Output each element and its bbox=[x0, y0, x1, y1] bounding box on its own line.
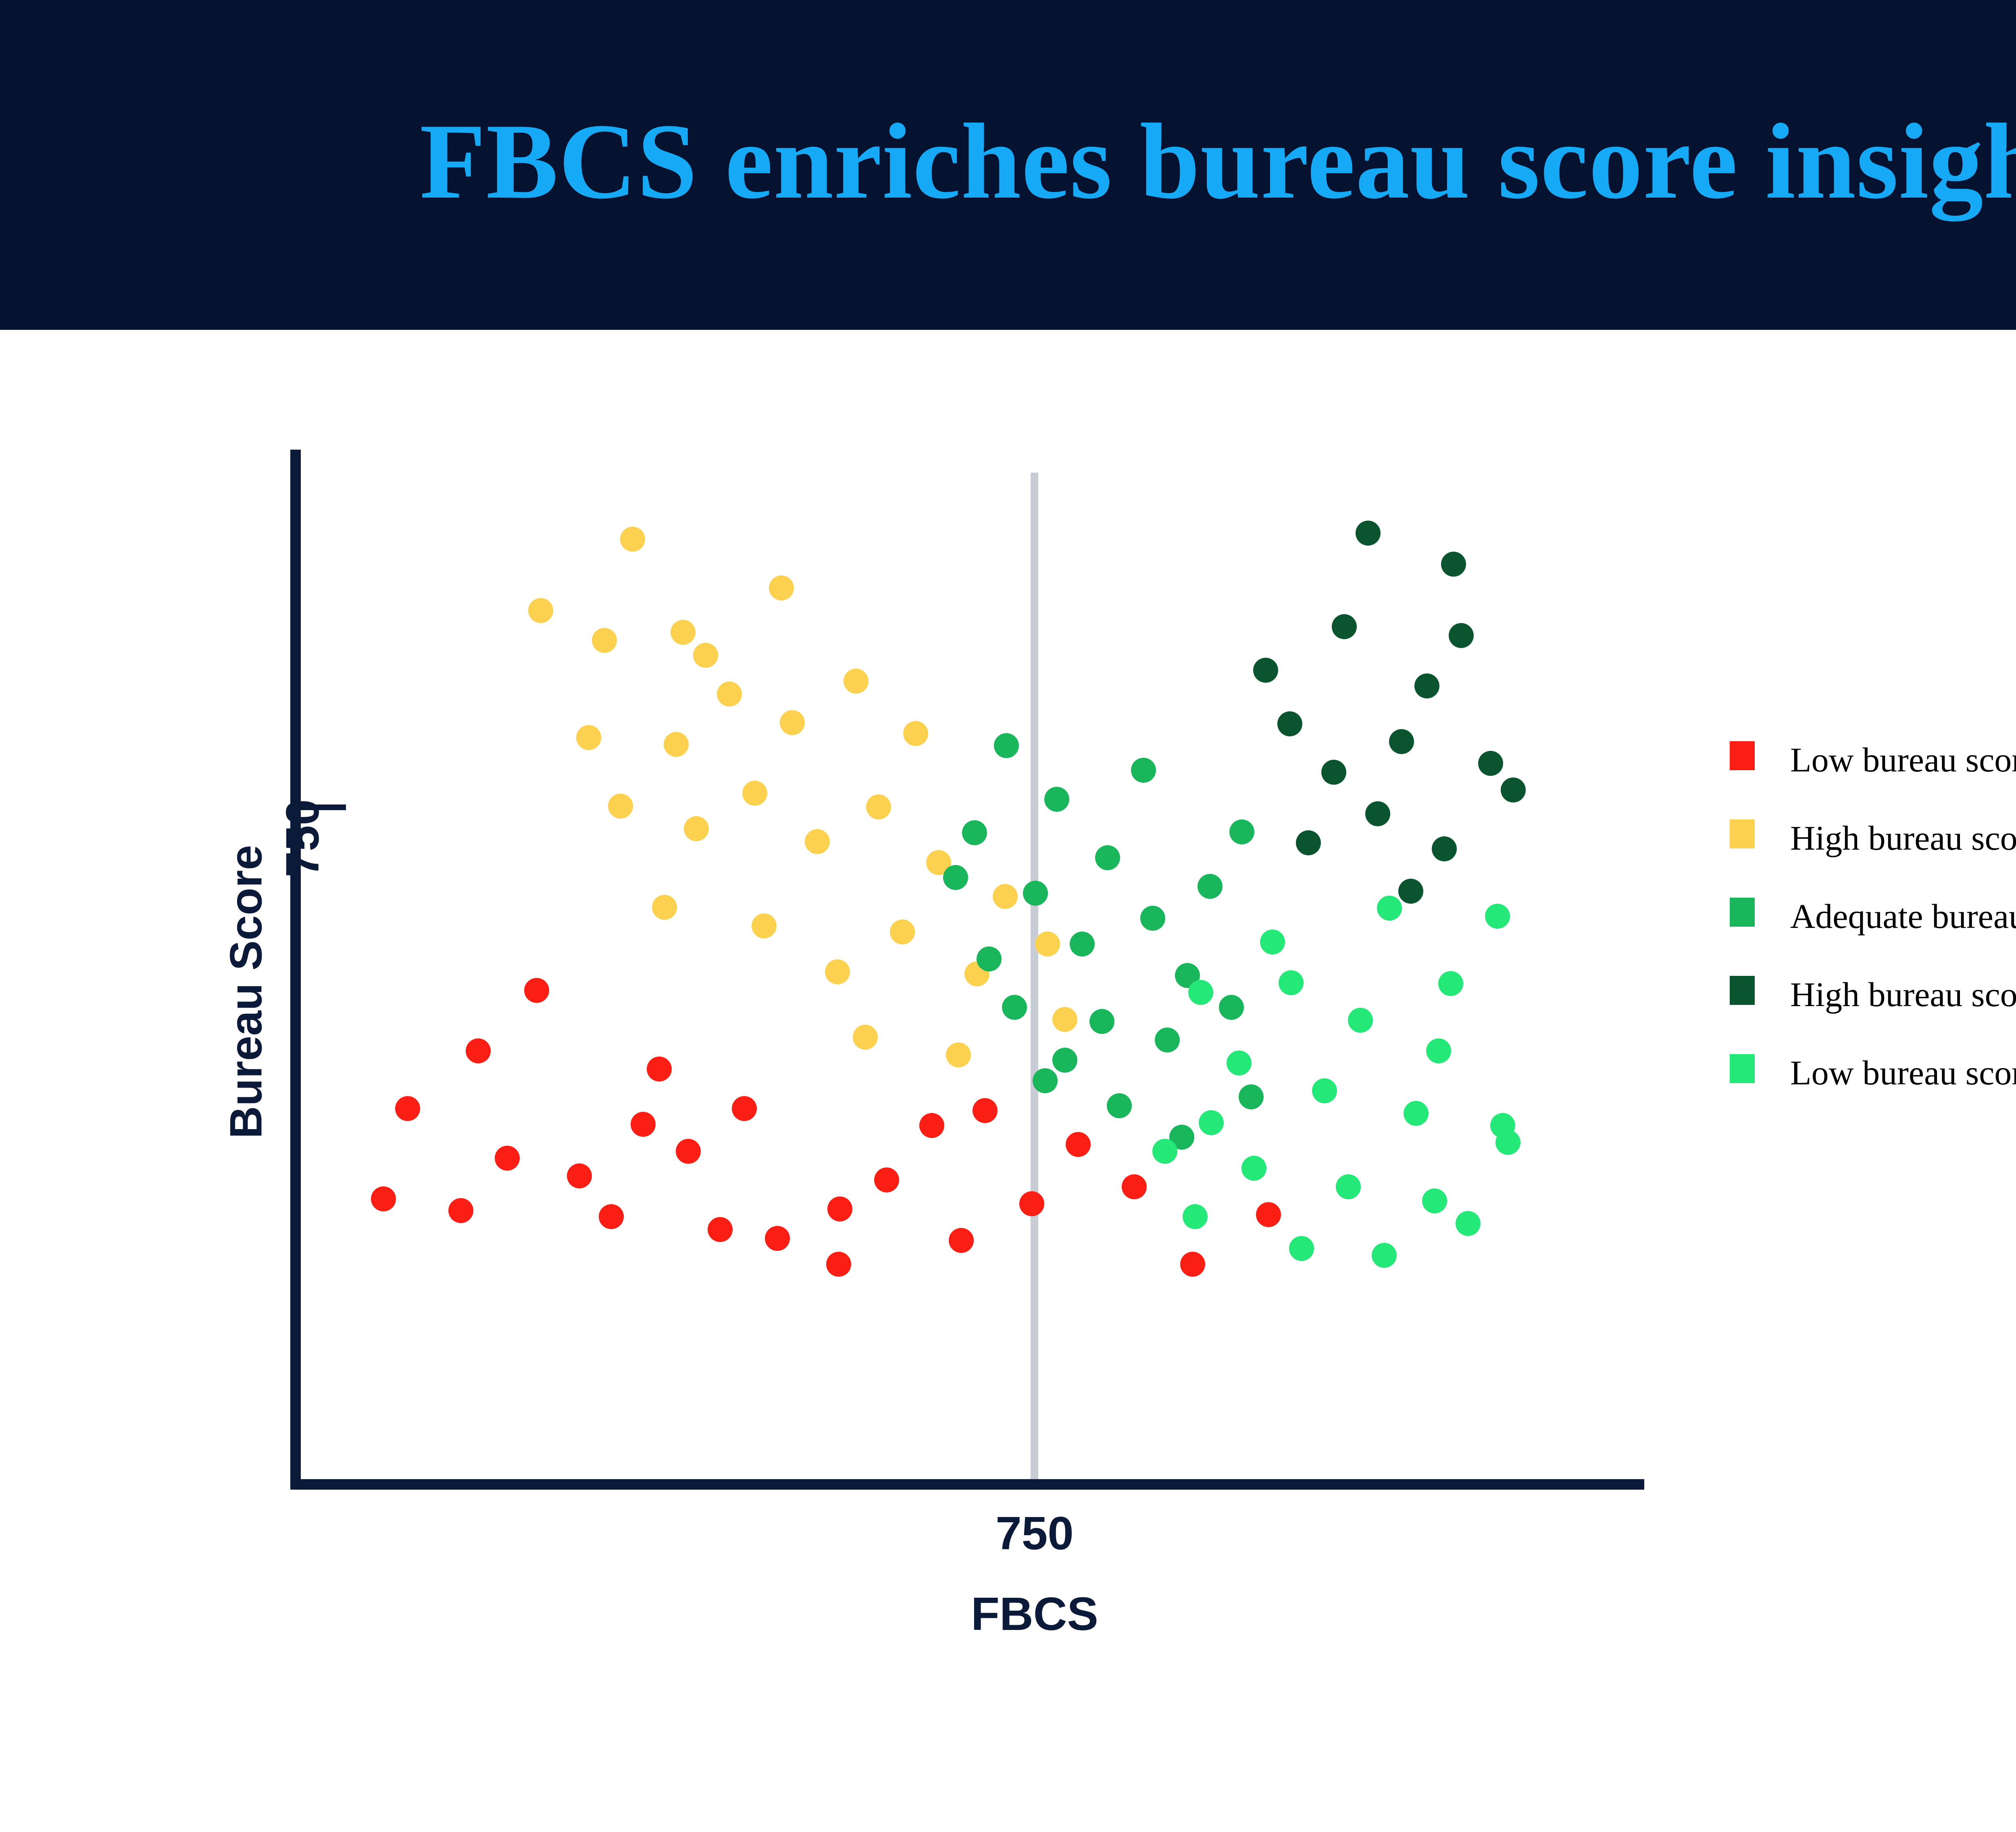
scatter-point bbox=[1414, 673, 1439, 698]
x-reference-line-750 bbox=[1031, 473, 1038, 1479]
page-title: FBCS enriches bureau score insights bbox=[0, 101, 2016, 222]
scatter-point bbox=[1033, 1068, 1058, 1093]
scatter-point bbox=[528, 598, 553, 623]
scatter-point bbox=[1122, 1174, 1147, 1199]
scatter-point bbox=[1312, 1078, 1337, 1103]
scatter-point bbox=[1095, 845, 1120, 870]
scatter-point bbox=[652, 895, 677, 920]
scatter-point bbox=[684, 816, 709, 841]
legend-item: High bureau score, low FBCS bbox=[1730, 819, 2016, 898]
scatter-point bbox=[1332, 614, 1357, 639]
scatter-point bbox=[962, 820, 987, 845]
chart-legend: Low bureau score, low FBCSHigh bureau sc… bbox=[1730, 741, 2016, 1132]
scatter-point bbox=[1229, 819, 1254, 844]
scatter-point bbox=[732, 1096, 757, 1121]
scatter-point bbox=[1495, 1130, 1520, 1155]
legend-label: High bureau score, high FBCS bbox=[1790, 974, 2016, 1015]
scatter-point bbox=[671, 620, 696, 645]
header-band: FBCS enriches bureau score insights bbox=[0, 0, 2016, 330]
scatter-point bbox=[827, 1196, 852, 1221]
scatter-point bbox=[1485, 904, 1510, 929]
scatter-point bbox=[599, 1204, 624, 1229]
legend-swatch bbox=[1730, 819, 1755, 848]
scatter-point bbox=[825, 959, 850, 984]
scatter-point bbox=[1365, 801, 1390, 826]
scatter-point bbox=[371, 1186, 396, 1211]
x-axis-line bbox=[290, 1479, 1644, 1490]
scatter-point bbox=[495, 1146, 520, 1171]
y-axis-title: Bureau Score bbox=[220, 811, 272, 1173]
scatter-point bbox=[1432, 836, 1457, 861]
scatter-point bbox=[765, 1226, 790, 1251]
legend-label: Adequate bureau score, adequate FBCS bbox=[1790, 896, 2016, 936]
scatter-point bbox=[1070, 932, 1095, 957]
legend-item: Adequate bureau score, adequate FBCS bbox=[1730, 898, 2016, 976]
scatter-point bbox=[1478, 751, 1503, 776]
scatter-point bbox=[805, 829, 830, 854]
scatter-point bbox=[1356, 521, 1381, 546]
scatter-point bbox=[853, 1025, 878, 1050]
scatter-point bbox=[524, 978, 549, 1003]
scatter-point bbox=[1239, 1084, 1264, 1109]
legend-swatch bbox=[1730, 898, 1755, 927]
scatter-point bbox=[1241, 1156, 1266, 1181]
scatter-point bbox=[943, 865, 968, 890]
scatter-point bbox=[693, 643, 718, 668]
scatter-point bbox=[1140, 906, 1165, 931]
scatter-point bbox=[949, 1228, 974, 1253]
scatter-point bbox=[1389, 729, 1414, 754]
legend-label: Low bureau score, low FBCS bbox=[1790, 740, 2016, 780]
scatter-point bbox=[1348, 1008, 1373, 1033]
scatter-point bbox=[1336, 1174, 1361, 1199]
scatter-point bbox=[843, 669, 868, 694]
legend-item: High bureau score, high FBCS bbox=[1730, 976, 2016, 1054]
scatter-point bbox=[946, 1042, 971, 1067]
scatter-point bbox=[826, 1252, 851, 1277]
scatter-point bbox=[1089, 1009, 1114, 1034]
scatter-point bbox=[903, 721, 928, 746]
scatter-point bbox=[708, 1217, 733, 1242]
x-axis-title: FBCS bbox=[914, 1587, 1156, 1641]
scatter-point bbox=[1372, 1243, 1397, 1268]
scatter-point bbox=[1422, 1188, 1447, 1213]
scatter-point bbox=[742, 781, 767, 806]
scatter-point bbox=[1260, 930, 1285, 955]
scatter-point bbox=[769, 575, 794, 600]
scatter-point bbox=[1052, 1048, 1077, 1073]
scatter-point bbox=[1044, 787, 1069, 812]
scatter-point bbox=[395, 1096, 420, 1121]
scatter-point bbox=[1398, 879, 1423, 904]
scatter-point bbox=[1002, 995, 1027, 1020]
scatter-point bbox=[1183, 1204, 1208, 1229]
scatter-point bbox=[993, 884, 1018, 909]
scatter-point bbox=[466, 1038, 491, 1063]
plot-area: 750 Bureau Score 750 FBCS bbox=[290, 450, 1644, 1490]
legend-label: High bureau score, low FBCS bbox=[1790, 818, 2016, 858]
scatter-point bbox=[866, 794, 891, 819]
scatter-point bbox=[1501, 777, 1526, 802]
scatter-point bbox=[1152, 1139, 1177, 1164]
legend-swatch bbox=[1730, 741, 1755, 770]
scatter-point bbox=[664, 732, 689, 757]
scatter-point bbox=[608, 794, 633, 819]
scatter-point bbox=[1449, 623, 1474, 648]
slide-canvas: FBCS enriches bureau score insights 750 … bbox=[0, 0, 2016, 1832]
scatter-point bbox=[1438, 971, 1463, 996]
scatter-point bbox=[1256, 1202, 1281, 1227]
scatter-point bbox=[1456, 1211, 1481, 1236]
scatter-point bbox=[1277, 711, 1302, 736]
scatter-point bbox=[1035, 932, 1060, 957]
y-axis-line bbox=[290, 450, 301, 1490]
scatter-point bbox=[1253, 658, 1278, 683]
legend-label: Low bureau score, high FBCS bbox=[1790, 1053, 2016, 1093]
scatter-point bbox=[1188, 980, 1213, 1005]
scatter-point bbox=[1227, 1050, 1252, 1075]
scatter-point bbox=[1155, 1028, 1180, 1053]
legend-item: Low bureau score, low FBCS bbox=[1730, 741, 2016, 819]
scatter-point bbox=[1404, 1101, 1429, 1126]
scatter-point bbox=[676, 1139, 701, 1164]
scatter-point bbox=[919, 1113, 944, 1138]
scatter-point bbox=[448, 1198, 473, 1223]
scatter-point bbox=[1019, 1191, 1044, 1216]
scatter-point bbox=[1321, 760, 1346, 785]
y-axis-tick-label: 750 bbox=[275, 799, 329, 920]
scatter-point bbox=[717, 682, 742, 707]
scatter-point bbox=[1426, 1038, 1451, 1063]
scatter-point bbox=[994, 733, 1019, 758]
scatter-point bbox=[890, 919, 915, 944]
scatter-point bbox=[1279, 970, 1304, 995]
scatter-point bbox=[1441, 552, 1466, 577]
scatter-point bbox=[977, 946, 1002, 971]
scatter-point bbox=[1052, 1007, 1077, 1032]
scatter-point bbox=[1023, 881, 1048, 906]
scatter-point bbox=[1377, 896, 1402, 921]
scatter-chart: 750 Bureau Score 750 FBCS bbox=[0, 330, 2016, 1832]
scatter-point bbox=[576, 725, 601, 750]
scatter-point bbox=[752, 913, 777, 938]
scatter-point bbox=[1198, 874, 1223, 899]
scatter-point bbox=[1180, 1252, 1205, 1277]
scatter-point bbox=[874, 1167, 899, 1192]
scatter-point bbox=[1131, 758, 1156, 783]
scatter-point bbox=[567, 1163, 592, 1188]
scatter-point bbox=[1199, 1110, 1224, 1135]
legend-item: Low bureau score, high FBCS bbox=[1730, 1054, 2016, 1132]
legend-swatch bbox=[1730, 976, 1755, 1005]
scatter-point bbox=[592, 628, 617, 653]
scatter-point bbox=[1219, 995, 1244, 1020]
scatter-point bbox=[1289, 1236, 1314, 1261]
scatter-point bbox=[780, 710, 805, 735]
scatter-point bbox=[1107, 1093, 1132, 1118]
scatter-point bbox=[620, 527, 645, 552]
legend-swatch bbox=[1730, 1054, 1755, 1083]
scatter-point bbox=[647, 1057, 672, 1082]
scatter-point bbox=[1296, 830, 1321, 855]
x-axis-tick-label: 750 bbox=[914, 1506, 1156, 1560]
scatter-point bbox=[1066, 1132, 1091, 1157]
scatter-point bbox=[631, 1112, 656, 1137]
scatter-point bbox=[973, 1098, 998, 1123]
